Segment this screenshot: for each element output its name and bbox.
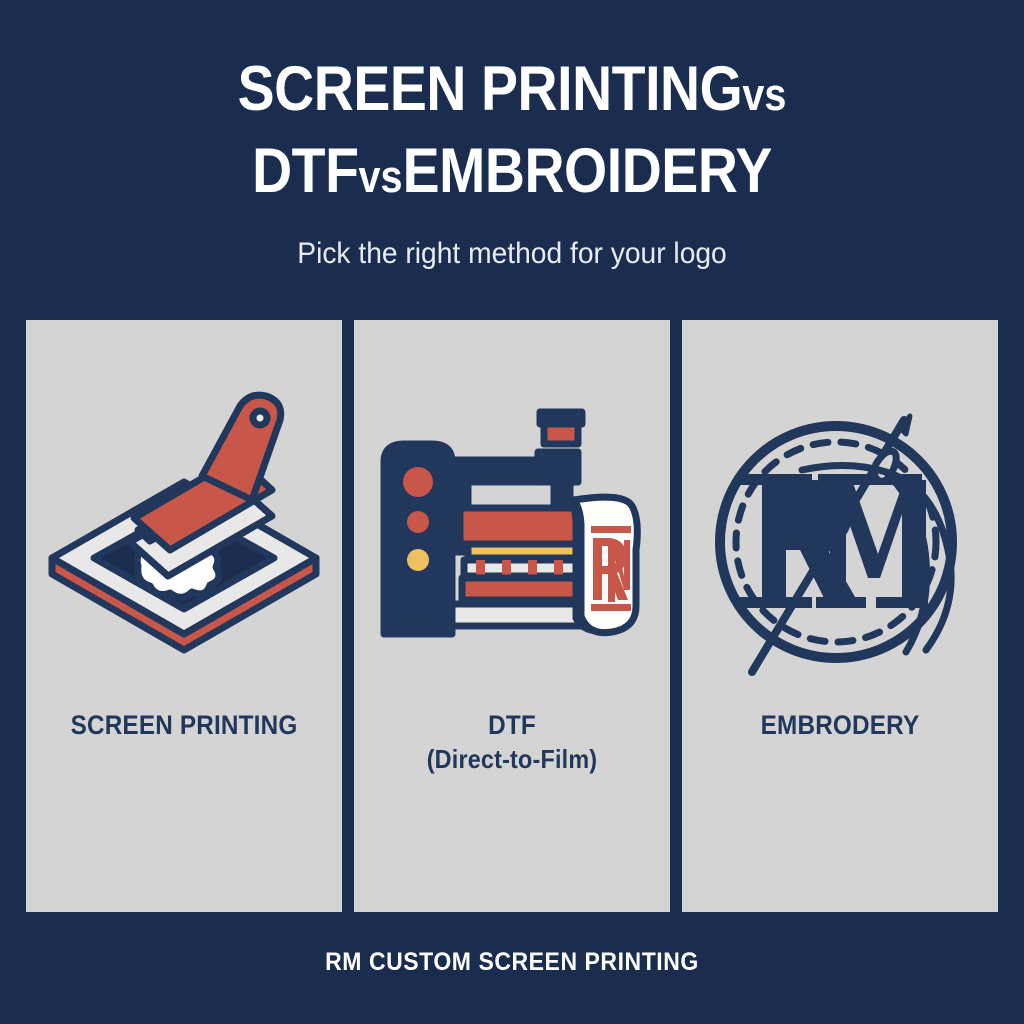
card-label-text: EMBRODERY — [761, 710, 920, 740]
title-vs-2: vs — [359, 151, 403, 202]
card-label-screen-printing: SCREEN PRINTING — [42, 708, 326, 742]
title-tail-2: EMBROIDERY — [403, 136, 772, 206]
method-card-screen-printing[interactable]: SCREEN PRINTING — [26, 320, 342, 912]
header: SCREEN PRINTINGvs DTFvsEMBROIDERY Pick t… — [0, 0, 1024, 272]
embroidery-illustration — [682, 380, 998, 700]
method-card-embroidery[interactable]: EMBRODERY — [682, 320, 998, 912]
card-label-text: DTF — [488, 710, 536, 740]
card-label-embroidery: EMBRODERY — [698, 708, 982, 742]
title-main-1: SCREEN PRINTING — [238, 54, 743, 124]
title-vs-1: vs — [742, 69, 786, 120]
screen-printing-illustration — [26, 380, 342, 700]
card-label-text: SCREEN PRINTING — [71, 710, 298, 740]
method-card-dtf[interactable]: DTF (Direct-to-Film) — [354, 320, 670, 912]
card-label-dtf: DTF (Direct-to-Film) — [370, 708, 654, 776]
card-sublabel-text: (Direct-to-Film) — [370, 742, 654, 776]
dtf-illustration — [354, 380, 670, 700]
page-title-line-1: SCREEN PRINTINGvs — [61, 52, 962, 132]
dtf-printer-film-icon — [362, 390, 662, 690]
infographic-poster: SCREEN PRINTINGvs DTFvsEMBROIDERY Pick t… — [0, 0, 1024, 1024]
page-title-line-2: DTFvsEMBROIDERY — [61, 134, 962, 214]
method-card-row: SCREEN PRINTING — [26, 320, 998, 912]
embroidery-hoop-needle-icon — [690, 390, 990, 690]
title-lead-2: DTF — [252, 136, 358, 206]
footer-brand: RM CUSTOM SCREEN PRINTING — [41, 948, 983, 977]
page-subtitle: Pick the right method for your logo — [31, 236, 994, 272]
screen-printing-frame-squeegee-icon — [34, 390, 334, 690]
